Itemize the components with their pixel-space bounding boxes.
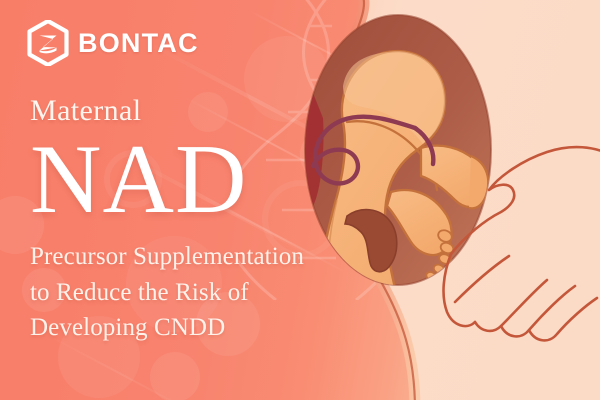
subtitle-line-3: Developing CNDD bbox=[30, 310, 390, 346]
headline-kicker: Maternal bbox=[30, 96, 390, 126]
subtitle-line-2: to Reduce the Risk of bbox=[30, 275, 390, 311]
brand-name: BONTAC bbox=[78, 30, 199, 57]
subtitle-line-1: Precursor Supplementation bbox=[30, 239, 390, 275]
hexagon-leaf-logo-icon bbox=[27, 20, 69, 66]
brand-logo[interactable]: BONTAC bbox=[27, 20, 199, 66]
promo-banner: BONTAC Maternal NAD Precursor Supplement… bbox=[0, 0, 600, 400]
headline-emphasis: NAD bbox=[30, 132, 390, 227]
headline-subtitle: Precursor Supplementation to Reduce the … bbox=[30, 239, 390, 346]
headline-block: Maternal NAD Precursor Supplementation t… bbox=[30, 96, 390, 346]
